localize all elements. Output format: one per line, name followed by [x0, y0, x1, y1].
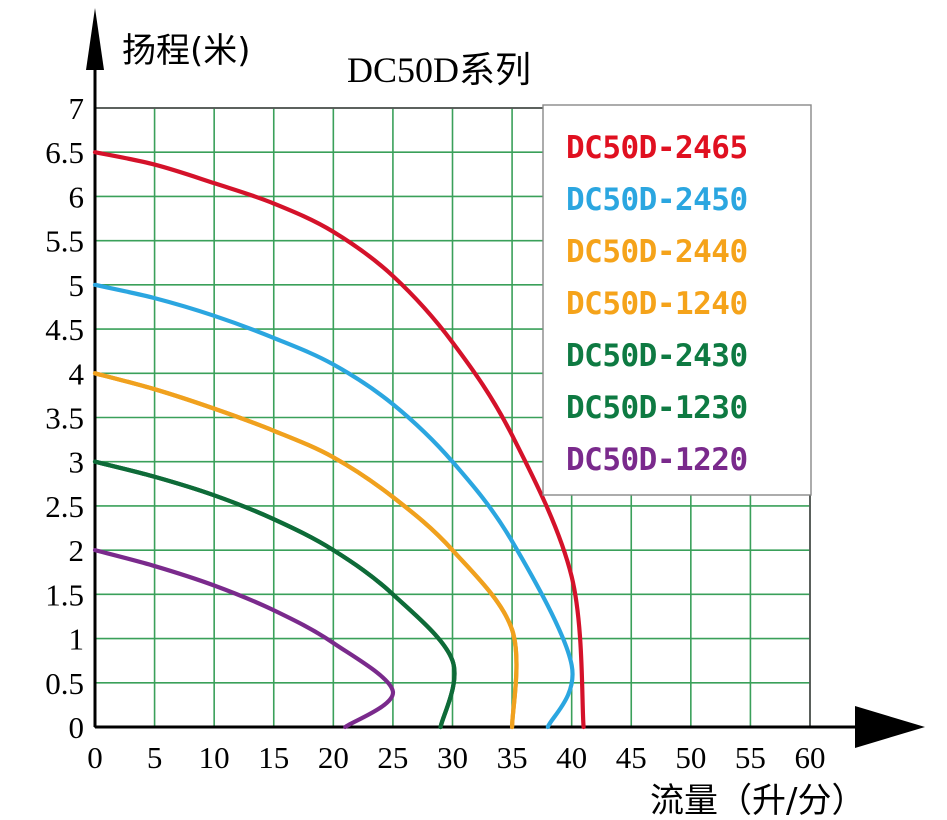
- x-tick-label: 55: [735, 740, 766, 775]
- y-axis-tick-labels: 00.511.522.533.544.555.566.57: [45, 91, 84, 745]
- y-axis-title: 扬程(米): [122, 31, 251, 71]
- x-tick-label: 25: [377, 740, 408, 775]
- y-tick-label: 4.5: [45, 312, 84, 347]
- x-tick-label: 30: [437, 740, 468, 775]
- x-tick-label: 0: [87, 740, 103, 775]
- y-tick-label: 6.5: [45, 135, 84, 170]
- y-tick-label: 4: [69, 356, 85, 391]
- y-tick-label: 0.5: [45, 666, 84, 701]
- y-tick-label: 5: [69, 268, 85, 303]
- chart-title: DC50D系列: [347, 50, 531, 90]
- y-tick-label: 7: [69, 91, 85, 126]
- legend-item-dc50d-1220[interactable]: DC50D-1220: [566, 442, 748, 478]
- y-tick-label: 2: [69, 533, 85, 568]
- y-tick-label: 5.5: [45, 224, 84, 259]
- x-tick-label: 45: [616, 740, 647, 775]
- y-tick-label: 2.5: [45, 489, 84, 524]
- x-tick-label: 10: [199, 740, 230, 775]
- up-arrow-icon: [86, 8, 104, 70]
- x-tick-label: 50: [675, 740, 706, 775]
- x-axis-title: 流量（升/分）: [650, 781, 865, 820]
- x-tick-label: 40: [556, 740, 587, 775]
- y-tick-label: 0: [69, 710, 85, 745]
- x-tick-label: 35: [497, 740, 528, 775]
- legend-item-dc50d-2430[interactable]: DC50D-2430: [566, 338, 748, 374]
- y-tick-label: 3.5: [45, 401, 84, 436]
- legend-item-dc50d-1240[interactable]: DC50D-1240: [566, 286, 748, 322]
- y-tick-label: 6: [69, 179, 85, 214]
- legend-item-dc50d-2440[interactable]: DC50D-2440: [566, 234, 748, 270]
- x-tick-label: 15: [258, 740, 289, 775]
- legend-item-dc50d-1230[interactable]: DC50D-1230: [566, 390, 748, 426]
- x-tick-label: 5: [147, 740, 163, 775]
- chart-canvas: 00.511.522.533.544.555.566.57 0510152025…: [0, 0, 947, 820]
- y-tick-label: 1.5: [45, 577, 84, 612]
- x-axis-tick-labels: 051015202530354045505560: [87, 740, 825, 775]
- x-tick-label: 20: [318, 740, 349, 775]
- legend-entries: DC50D-2465DC50D-2450DC50D-2440DC50D-1240…: [566, 130, 748, 478]
- y-tick-label: 1: [69, 622, 85, 657]
- curve-dc50d-2465: [95, 152, 584, 727]
- y-tick-label: 3: [69, 445, 85, 480]
- x-tick-label: 60: [795, 740, 826, 775]
- right-arrow-icon: [855, 706, 925, 748]
- legend-item-dc50d-2465[interactable]: DC50D-2465: [566, 130, 748, 166]
- legend-item-dc50d-2450[interactable]: DC50D-2450: [566, 182, 748, 218]
- pump-curve-chart: 00.511.522.533.544.555.566.57 0510152025…: [0, 0, 947, 820]
- curve-series-group: [95, 152, 584, 727]
